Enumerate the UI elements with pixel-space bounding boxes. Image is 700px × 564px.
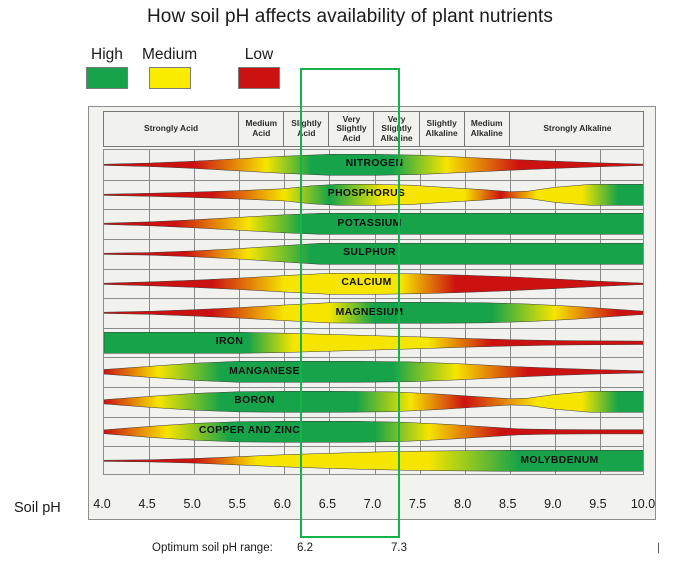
legend-swatch — [238, 67, 280, 89]
legend-item-high: High — [86, 46, 128, 89]
optimum-range-label: Optimum soil pH range: — [152, 542, 273, 554]
axis-tick-label: 7.5 — [409, 497, 426, 511]
footer: Optimum soil pH range: 6.2 7.3 | — [0, 540, 700, 562]
ph-category-cell: Medium Acid — [239, 112, 284, 146]
axis-tick-label: 8.0 — [454, 497, 471, 511]
ph-category-cell: Strongly Acid — [104, 112, 239, 146]
axis-tick-label: 6.0 — [274, 497, 291, 511]
ph-axis: 4.04.55.05.56.06.57.07.58.08.59.09.510.0 — [102, 497, 643, 521]
axis-title: Soil pH — [14, 500, 61, 516]
axis-tick-label: 7.0 — [364, 497, 381, 511]
axis-tick-label: 9.0 — [544, 497, 561, 511]
axis-tick-label: 6.5 — [319, 497, 336, 511]
ph-category-cell: Slightly Alkaline — [420, 112, 465, 146]
ph-category-cell: Medium Alkaline — [465, 112, 510, 146]
ph-category-label: Medium Acid — [240, 119, 282, 138]
legend-item-low: Low — [238, 46, 280, 89]
axis-tick-label: 10.0 — [631, 497, 655, 511]
page-title: How soil pH affects availability of plan… — [0, 6, 700, 28]
legend-swatch — [149, 67, 191, 89]
optimum-range-high: 7.3 — [391, 542, 407, 554]
ph-category-cell: Strongly Alkaline — [510, 112, 645, 146]
axis-tick-label: 4.5 — [138, 497, 155, 511]
axis-tick-label: 5.0 — [183, 497, 200, 511]
axis-tick-label: 8.5 — [499, 497, 516, 511]
ph-category-label: Slightly Alkaline — [421, 119, 463, 138]
legend-label: Medium — [142, 46, 197, 64]
ph-category-label: Medium Alkaline — [466, 119, 508, 138]
axis-tick-label: 4.0 — [93, 497, 110, 511]
ph-category-label: Strongly Alkaline — [543, 124, 611, 134]
ph-category-label: Strongly Acid — [144, 124, 198, 134]
axis-tick-label: 5.5 — [229, 497, 246, 511]
axis-tick-label: 9.5 — [589, 497, 606, 511]
legend-label: Low — [238, 46, 280, 64]
legend-swatch — [86, 67, 128, 89]
legend-item-medium: Medium — [142, 46, 197, 89]
footer-mark: | — [657, 540, 660, 554]
legend-label: High — [86, 46, 128, 64]
optimum-ph-range-box — [300, 68, 399, 538]
optimum-range-low: 6.2 — [297, 542, 313, 554]
